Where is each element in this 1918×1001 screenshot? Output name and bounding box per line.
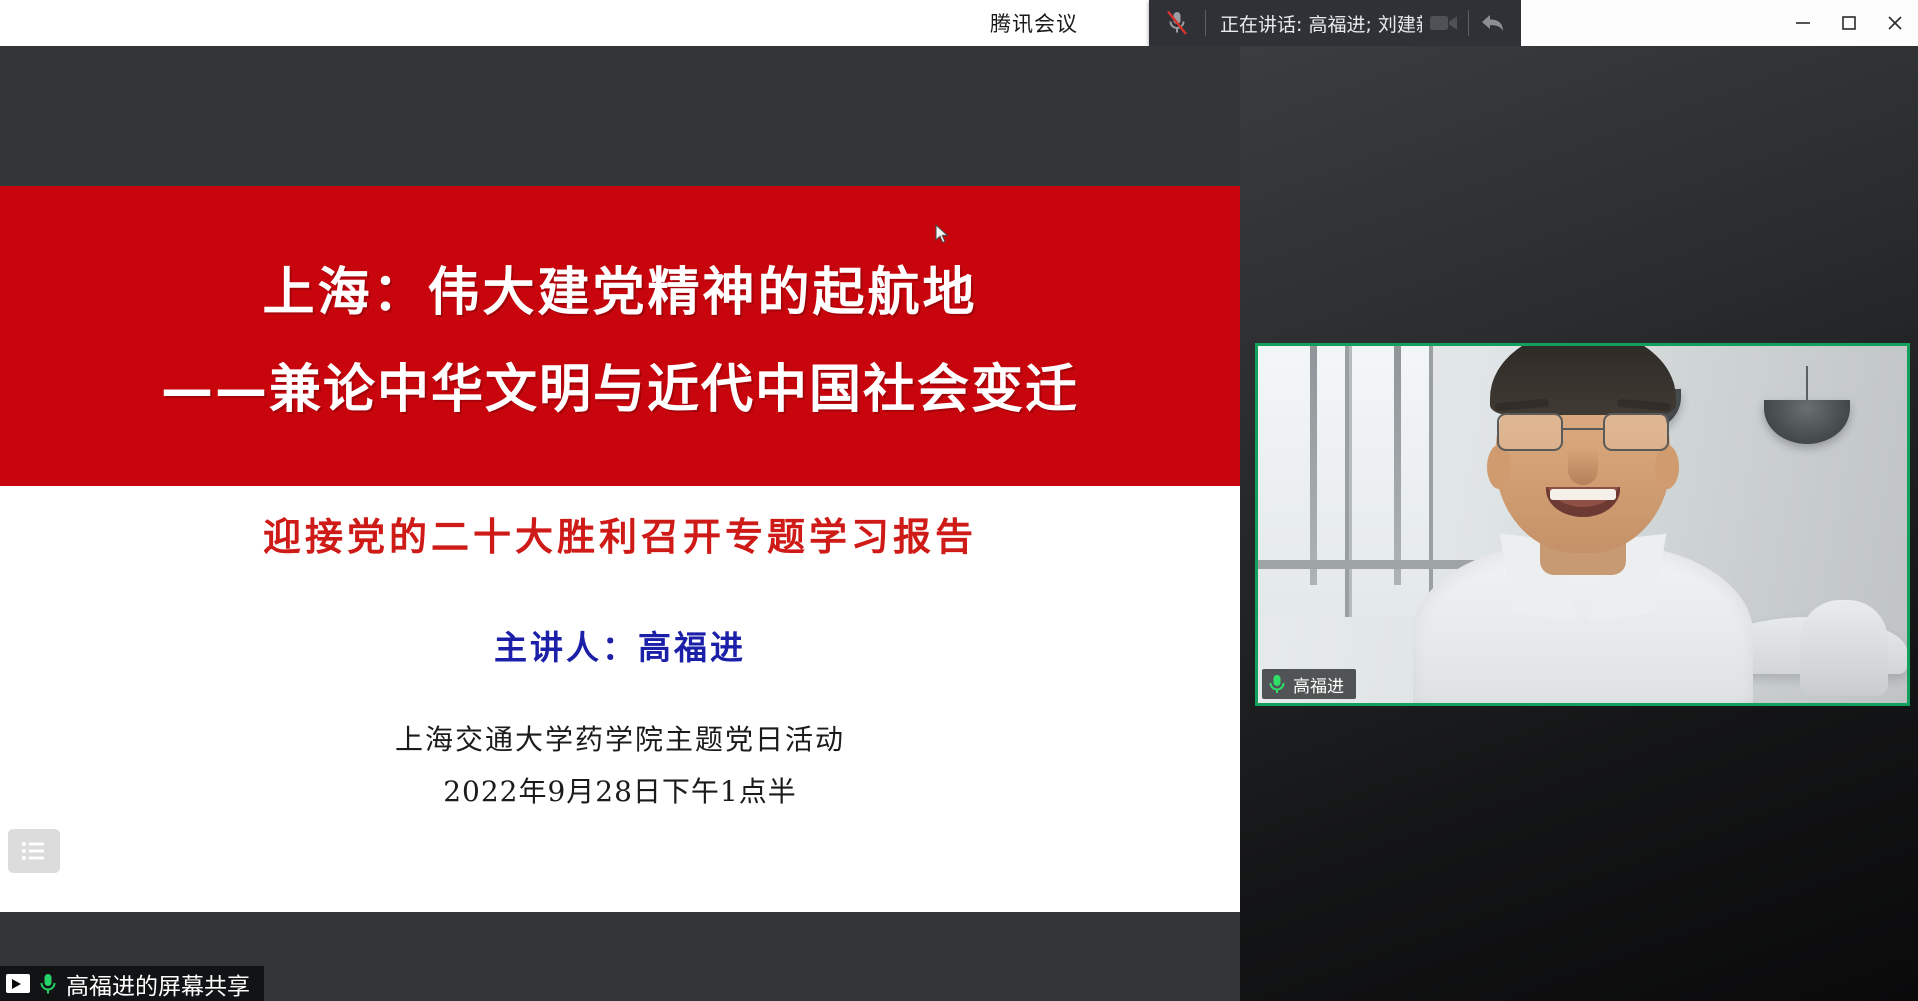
participant-video-tile[interactable]: 高福进	[1255, 343, 1910, 706]
microphone-on-icon	[1268, 673, 1286, 695]
slide-subtitle-red: 迎接党的二十大胜利召开专题学习报告	[0, 506, 1240, 561]
titlebar-blank-left	[0, 0, 919, 46]
glasses-lens-right	[1603, 413, 1669, 451]
slide-organization-line: 上海交通大学药学院主题党日活动	[0, 718, 1240, 758]
presentation-slide: 上海：伟大建党精神的起航地 ——兼论中华文明与近代中国社会变迁 迎接党的二十大胜…	[0, 186, 1240, 912]
meeting-window: 腾讯会议 正在讲话: 高福进; 刘建新;	[0, 0, 1918, 1001]
screen-share-indicator-label: 高福进的屏幕共享	[66, 967, 250, 1001]
microphone-muted-icon[interactable]	[1149, 0, 1205, 46]
screen-share-indicator: 高福进的屏幕共享	[0, 966, 264, 1001]
glasses-bridge	[1563, 428, 1603, 430]
glasses-lens-left	[1497, 413, 1563, 451]
toolbar-icon-group	[1422, 0, 1521, 46]
minimize-button[interactable]	[1780, 0, 1826, 46]
microphone-on-icon	[38, 972, 58, 996]
slide-title-line2: ——兼论中华文明与近代中国社会变迁	[161, 347, 1079, 422]
person-nose	[1568, 449, 1598, 485]
speaking-status-label: 正在讲话: 高福进; 刘建新;	[1206, 10, 1422, 37]
participant-name-tag: 高福进	[1262, 669, 1356, 699]
chair	[1800, 600, 1888, 696]
window-controls	[1521, 0, 1918, 46]
meeting-stage: 上海：伟大建党精神的起航地 ——兼论中华文明与近代中国社会变迁 迎接党的二十大胜…	[0, 46, 1918, 1001]
floating-meeting-toolbar: 正在讲话: 高福进; 刘建新;	[1149, 0, 1521, 46]
participant-name-label: 高福进	[1293, 672, 1344, 697]
slide-speaker-line: 主讲人：高福进	[0, 621, 1240, 669]
outline-list-icon[interactable]	[8, 829, 60, 873]
window-pane	[1258, 346, 1349, 617]
slide-title-banner: 上海：伟大建党精神的起航地 ——兼论中华文明与近代中国社会变迁	[0, 186, 1240, 486]
mouse-pointer-icon	[935, 224, 949, 244]
return-arrow-icon[interactable]	[1471, 0, 1515, 46]
slide-datetime-line: 2022年9月28日下午1点半	[0, 770, 1240, 810]
close-button[interactable]	[1872, 0, 1918, 46]
screen-share-icon	[6, 974, 30, 993]
person-teeth	[1550, 489, 1616, 500]
slide-title-line1: 上海：伟大建党精神的起航地	[262, 250, 977, 325]
participant-video-column: 高福进	[1240, 46, 1918, 1001]
video-camera-icon[interactable]	[1422, 0, 1466, 46]
participant-person	[1403, 373, 1763, 703]
app-tab-title-label: 腾讯会议	[990, 8, 1078, 38]
window-titlebar: 腾讯会议 正在讲话: 高福进; 刘建新;	[0, 0, 1918, 46]
eyeglasses	[1497, 413, 1669, 453]
video-feed: 高福进	[1258, 346, 1907, 703]
maximize-button[interactable]	[1826, 0, 1872, 46]
app-tab-title[interactable]: 腾讯会议	[919, 0, 1149, 46]
window-mullion	[1310, 346, 1317, 585]
shared-screen-area: 上海：伟大建党精神的起航地 ——兼论中华文明与近代中国社会变迁 迎接党的二十大胜…	[0, 46, 1240, 1001]
toolbar-divider-2	[1468, 10, 1469, 36]
window-mullion	[1394, 346, 1401, 585]
slide-body: 迎接党的二十大胜利召开专题学习报告 主讲人：高福进 上海交通大学药学院主题党日活…	[0, 486, 1240, 912]
